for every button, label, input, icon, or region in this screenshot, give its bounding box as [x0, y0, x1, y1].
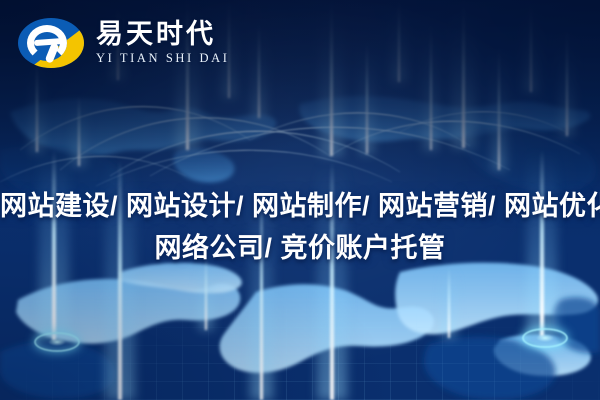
- banner-image: 易天时代 YI TIAN SHI DAI 网站建设/ 网站设计/ 网站制作/ 网…: [0, 0, 600, 400]
- headline-line-2: 网络公司/ 竞价账户托管: [0, 227, 600, 269]
- logo-wordmark: 易天时代 YI TIAN SHI DAI: [96, 20, 230, 65]
- headline-block: 网站建设/ 网站设计/ 网站制作/ 网站营销/ 网站优化 网络公司/ 竞价账户托…: [0, 185, 600, 269]
- logo-company-name-pinyin: YI TIAN SHI DAI: [96, 51, 230, 66]
- logo-e-mark-icon: [18, 18, 84, 68]
- logo-company-name-cn: 易天时代: [96, 20, 230, 48]
- headline-line-1: 网站建设/ 网站设计/ 网站制作/ 网站营销/ 网站优化: [0, 185, 600, 227]
- company-logo[interactable]: 易天时代 YI TIAN SHI DAI: [18, 12, 248, 74]
